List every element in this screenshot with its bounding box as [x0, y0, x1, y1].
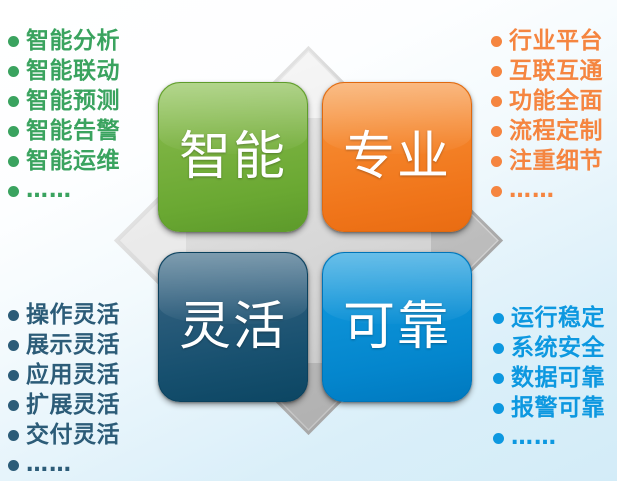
- list-item-label: 智能分析: [26, 26, 120, 56]
- list-item-label: 智能联动: [26, 56, 120, 86]
- bullet-icon: [8, 370, 19, 381]
- list-item-label: 智能预测: [26, 86, 120, 116]
- feature-list-flexible-items: 操作灵活展示灵活应用灵活扩展灵活交付灵活……: [8, 300, 120, 480]
- list-item-label: 报警可靠: [511, 393, 605, 423]
- list-item-label: 应用灵活: [26, 360, 120, 390]
- list-item: 系统安全: [493, 333, 605, 363]
- bullet-icon: [491, 66, 502, 77]
- quadrant-tile-professional[interactable]: 专业: [322, 82, 472, 232]
- list-item: 注重细节: [491, 146, 603, 176]
- list-item: ……: [491, 176, 603, 206]
- list-item: 扩展灵活: [8, 390, 120, 420]
- list-item: 报警可靠: [493, 393, 605, 423]
- list-item-label: 注重细节: [509, 146, 603, 176]
- list-item: 流程定制: [491, 116, 603, 146]
- quadrant-tile-label: 可靠: [343, 301, 451, 353]
- list-item-label: ……: [26, 450, 72, 480]
- list-item-label: 行业平台: [509, 26, 603, 56]
- diagram-canvas: 智能 专业 灵活 可靠 智能分析智能联动智能预测智能告警智能运维…… 行业平台互…: [0, 0, 617, 481]
- bullet-icon: [491, 156, 502, 167]
- bullet-icon: [491, 36, 502, 47]
- quadrant-tile-label: 专业: [343, 131, 451, 183]
- list-item-label: 智能告警: [26, 116, 120, 146]
- list-item-label: ……: [26, 176, 72, 206]
- list-item-label: 功能全面: [509, 86, 603, 116]
- bullet-icon: [8, 400, 19, 411]
- list-item-label: ……: [509, 176, 555, 206]
- list-item: 应用灵活: [8, 360, 120, 390]
- bullet-icon: [493, 433, 504, 444]
- bullet-icon: [8, 156, 19, 167]
- list-item-label: 流程定制: [509, 116, 603, 146]
- feature-list-reliable: 运行稳定系统安全数据可靠报警可靠……: [493, 303, 605, 453]
- list-item: 行业平台: [491, 26, 603, 56]
- bullet-icon: [493, 403, 504, 414]
- list-item: ……: [8, 450, 120, 480]
- list-item: 智能预测: [8, 86, 120, 116]
- list-item: 智能分析: [8, 26, 120, 56]
- bullet-icon: [8, 310, 19, 321]
- bullet-icon: [491, 186, 502, 197]
- list-item-label: 操作灵活: [26, 300, 120, 330]
- bullet-icon: [8, 96, 19, 107]
- feature-list-professional-items: 行业平台互联互通功能全面流程定制注重细节……: [491, 26, 603, 206]
- list-item: 智能运维: [8, 146, 120, 176]
- list-item: 展示灵活: [8, 330, 120, 360]
- list-item-label: 运行稳定: [511, 303, 605, 333]
- bullet-icon: [8, 186, 19, 197]
- list-item: 操作灵活: [8, 300, 120, 330]
- quadrant-tile-label: 智能: [179, 131, 287, 183]
- list-item-label: 互联互通: [509, 56, 603, 86]
- bullet-icon: [8, 340, 19, 351]
- list-item: 数据可靠: [493, 363, 605, 393]
- list-item: ……: [8, 176, 120, 206]
- bullet-icon: [493, 313, 504, 324]
- quadrant-tile-intelligent[interactable]: 智能: [158, 82, 308, 232]
- feature-list-intelligent: 智能分析智能联动智能预测智能告警智能运维……: [8, 26, 120, 206]
- bullet-icon: [8, 126, 19, 137]
- quadrant-tile-label: 灵活: [179, 301, 287, 353]
- list-item-label: 系统安全: [511, 333, 605, 363]
- feature-list-professional: 行业平台互联互通功能全面流程定制注重细节……: [491, 26, 603, 206]
- list-item: 互联互通: [491, 56, 603, 86]
- list-item: ……: [493, 423, 605, 453]
- bullet-icon: [493, 373, 504, 384]
- list-item: 智能联动: [8, 56, 120, 86]
- quadrant-tile-reliable[interactable]: 可靠: [322, 252, 472, 402]
- list-item-label: 交付灵活: [26, 420, 120, 450]
- list-item: 智能告警: [8, 116, 120, 146]
- bullet-icon: [8, 430, 19, 441]
- quadrant-tile-flexible[interactable]: 灵活: [158, 252, 308, 402]
- list-item-label: 扩展灵活: [26, 390, 120, 420]
- bullet-icon: [493, 343, 504, 354]
- list-item: 功能全面: [491, 86, 603, 116]
- bullet-icon: [8, 36, 19, 47]
- list-item-label: 智能运维: [26, 146, 120, 176]
- bullet-icon: [491, 96, 502, 107]
- feature-list-flexible: 操作灵活展示灵活应用灵活扩展灵活交付灵活……: [8, 300, 120, 480]
- list-item: 交付灵活: [8, 420, 120, 450]
- list-item-label: 数据可靠: [511, 363, 605, 393]
- bullet-icon: [8, 460, 19, 471]
- list-item: 运行稳定: [493, 303, 605, 333]
- feature-list-intelligent-items: 智能分析智能联动智能预测智能告警智能运维……: [8, 26, 120, 206]
- bullet-icon: [8, 66, 19, 77]
- bullet-icon: [491, 126, 502, 137]
- feature-list-reliable-items: 运行稳定系统安全数据可靠报警可靠……: [493, 303, 605, 453]
- list-item-label: ……: [511, 423, 557, 453]
- list-item-label: 展示灵活: [26, 330, 120, 360]
